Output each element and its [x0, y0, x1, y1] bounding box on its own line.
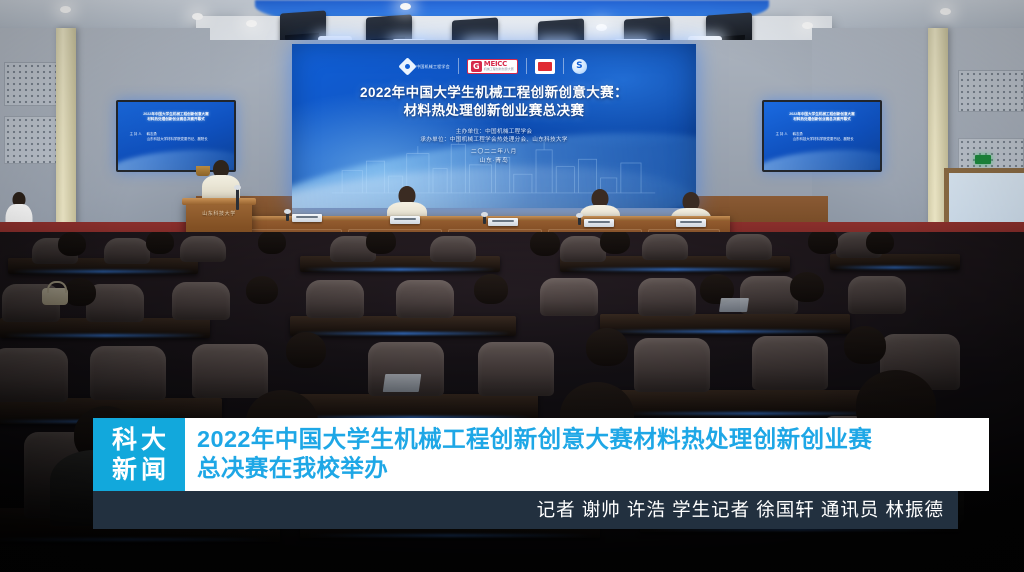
- main-screen-organizers: 主办单位：中国机械工程学会 承办单位：中国机械工程学会热处理分会、山东科技大学: [292, 128, 696, 144]
- headline-line-2: 总决赛在我校举办: [197, 454, 979, 483]
- audience-chair: [726, 234, 772, 260]
- audience-head: [474, 274, 508, 304]
- side-screen-wave-graphic: [762, 145, 882, 172]
- main-screen-date-place: 二〇二二年八月 山东·青岛: [292, 148, 696, 165]
- circle-blue-icon: S: [572, 59, 587, 74]
- audience-head: [808, 232, 838, 254]
- meicc-g-mark-icon: G: [471, 61, 482, 72]
- date-line: 二〇二二年八月: [292, 148, 696, 157]
- table-microphone-2: [483, 215, 486, 224]
- meicc-logo: G MEICC 机械工程创新创意大赛: [459, 59, 526, 74]
- ceiling-downlight-2: [192, 13, 203, 20]
- left-side-screen-title: 2022年中国大学生机械工程创新创意大赛 材料热处理创新创业赛总决赛开幕式: [124, 112, 228, 122]
- audience-chair: [172, 282, 230, 320]
- audience-head: [366, 232, 396, 254]
- right-side-screen-host-row: 主 持 人 韩志勇 山东科技大学材料学院党委书记、副院长: [776, 132, 871, 142]
- ceiling-downlight-7: [940, 8, 951, 15]
- audience-head: [246, 276, 278, 304]
- audience-head: [844, 326, 886, 364]
- cmes-logo-text: 中国机械工程学会: [416, 64, 450, 69]
- exit-sign-icon: [975, 155, 991, 164]
- host-line: 承办单位：中国机械工程学会热处理分会、山东科技大学: [292, 136, 696, 144]
- channel-badge-line-2: 新闻: [108, 455, 170, 485]
- table-microphone-1: [286, 212, 289, 221]
- podium-microphone: [236, 188, 239, 210]
- channel-badge-line-1: 科大: [108, 425, 170, 455]
- audience-chair: [0, 348, 68, 402]
- lower-third-headline-row: 科大 新闻 2022年中国大学生机械工程创新创意大赛材料热处理创新创业赛 总决赛…: [93, 418, 989, 491]
- host-values: 韩志勇 山东科技大学材料学院党委书记、副院长: [147, 132, 208, 142]
- audience-chair: [306, 280, 364, 318]
- audience-head: [790, 272, 824, 302]
- place-line: 山东·青岛: [292, 157, 696, 166]
- right-side-screen: 2022年中国大学生机械工程创新创意大赛 材料热处理创新创业赛总决赛开幕式 主 …: [762, 100, 882, 172]
- ceiling-downlight-4: [400, 3, 411, 10]
- audience-chair: [180, 236, 226, 262]
- nameplate-5: [676, 219, 706, 227]
- podium-front-text: 山东科技大学: [186, 210, 252, 217]
- audience-head: [600, 232, 630, 254]
- credits-text: 记者 谢帅 许浩 学生记者 徐国轩 通讯员 林振德: [537, 499, 944, 521]
- main-screen-title-line-2: 材料热处理创新创业赛总决赛: [292, 102, 696, 120]
- audience-head: [258, 232, 286, 254]
- host-label: 主 持 人: [130, 132, 142, 137]
- audience-head: [530, 232, 560, 256]
- handbag-on-chair: [42, 288, 68, 305]
- left-side-screen-host-row: 主 持 人 韩志勇 山东科技大学材料学院党委书记、副院长: [130, 132, 225, 142]
- audience-desk-row-b-center: [290, 316, 516, 336]
- cmes-logo: 中国机械工程学会: [393, 60, 458, 73]
- ceiling-downlight-5: [596, 24, 607, 31]
- main-led-screen: 中国机械工程学会 G MEICC 机械工程创新创意大赛: [292, 44, 696, 208]
- screen-logo-strip: 中国机械工程学会 G MEICC 机械工程创新创意大赛: [292, 55, 696, 77]
- audience-chair: [90, 346, 166, 400]
- audience-chair: [634, 338, 710, 392]
- audience-chair: [540, 278, 598, 316]
- nameplate-3: [488, 218, 518, 226]
- red-emblem-logo: [527, 59, 563, 74]
- audience-head: [866, 232, 894, 254]
- audience-chair: [396, 280, 454, 318]
- audience-head: [146, 232, 174, 254]
- audience-desk-row-b-right: [600, 314, 850, 334]
- main-screen-title-line-1: 2022年中国大学生机械工程创新创意大赛：: [292, 84, 696, 102]
- lower-third-graphic: 科大 新闻 2022年中国大学生机械工程创新创意大赛材料热处理创新创业赛 总决赛…: [93, 418, 989, 529]
- audience-chair: [740, 276, 798, 314]
- channel-badge: 科大 新闻: [93, 418, 185, 491]
- audience-chair: [752, 336, 828, 390]
- credits-bar: 记者 谢帅 许浩 学生记者 徐国轩 通讯员 林振德: [93, 491, 958, 529]
- nameplate-1: [292, 214, 322, 222]
- audience-chair: [430, 236, 476, 262]
- right-side-screen-title: 2022年中国大学生机械工程创新创意大赛 材料热处理创新创业赛总决赛开幕式: [770, 112, 874, 122]
- meicc-logo-subtext: 机械工程创新创意大赛: [484, 68, 514, 72]
- main-screen-title: 2022年中国大学生机械工程创新创意大赛： 材料热处理创新创业赛总决赛: [292, 84, 696, 120]
- audience-chair: [104, 238, 150, 264]
- audience-chair: [192, 344, 268, 398]
- audience-chair: [478, 342, 554, 396]
- host-values: 韩志勇 山东科技大学材料学院党委书记、副院长: [793, 132, 854, 142]
- circle-blue-logo: S: [564, 59, 595, 74]
- audience-chair: [642, 234, 688, 260]
- laptop-on-desk: [719, 298, 749, 312]
- ceiling-downlight-1: [60, 6, 71, 13]
- ceiling-downlight-3: [246, 20, 257, 27]
- laptop-on-desk: [383, 374, 422, 392]
- organizer-line: 主办单位：中国机械工程学会: [292, 128, 696, 136]
- headline-line-1: 2022年中国大学生机械工程创新创意大赛材料热处理创新创业赛: [197, 425, 979, 454]
- table-microphone-3: [578, 216, 581, 225]
- audience-chair: [848, 276, 906, 314]
- left-acoustic-panel-lower: [4, 116, 64, 164]
- nameplate-4: [584, 219, 614, 227]
- audience-head: [286, 332, 326, 368]
- right-acoustic-panel-upper: [958, 70, 1024, 112]
- audience-chair: [638, 278, 696, 316]
- broadcast-screenshot: 2022年中国大学生机械工程创新创意大赛 材料热处理创新创业赛总决赛开幕式 主 …: [0, 0, 1024, 572]
- nameplate-2: [390, 216, 420, 224]
- audience-head: [58, 232, 86, 256]
- headline-block: 2022年中国大学生机械工程创新创意大赛材料热处理创新创业赛 总决赛在我校举办: [185, 418, 989, 491]
- audience-desk-row-c-center: [286, 394, 538, 420]
- red-emblem-icon: [538, 62, 552, 71]
- host-label: 主 持 人: [776, 132, 788, 137]
- audience-head: [586, 328, 628, 366]
- cmes-diamond-icon: [398, 57, 416, 75]
- audience-desk-row-c-right: [620, 390, 890, 416]
- left-acoustic-panel-upper: [4, 62, 64, 106]
- audience-head: [64, 278, 96, 306]
